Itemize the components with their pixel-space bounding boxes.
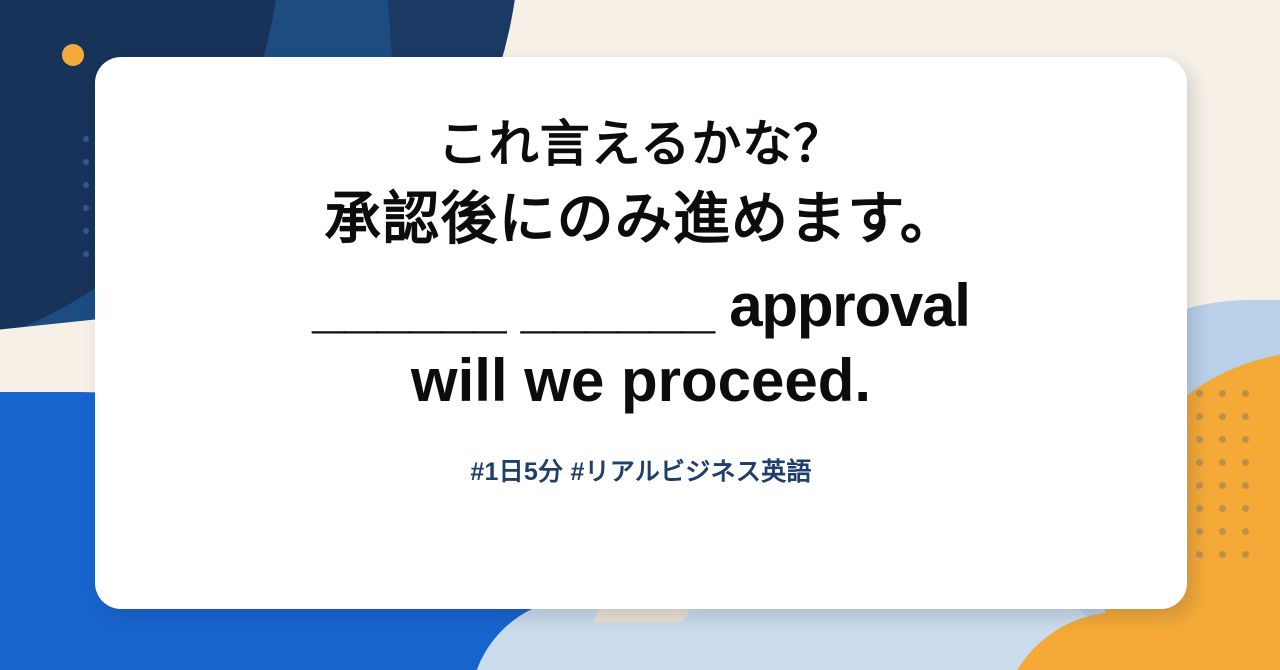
prompt-question-line: これ言えるかな？ [438,115,845,174]
dot-icon [1219,551,1226,558]
dot-icon [1242,390,1249,397]
dot-icon [1196,528,1203,535]
dot-icon [1196,413,1203,420]
dot-icon [83,228,89,234]
decor-shape-blue-bottom-band [0,604,680,670]
dot-icon [1219,482,1226,489]
slide-canvas: これ言えるかな？ 承認後にのみ進めます。 ______ ______ appro… [0,0,1280,670]
dot-icon [1196,459,1203,466]
dot-icon [83,159,89,165]
left-dot-column [83,136,89,257]
english-answer-line-2: will we proceed. [411,344,871,417]
dot-icon [83,182,89,188]
dot-icon [83,205,89,211]
decor-shape-orange-bottom [1000,612,1280,670]
dot-icon [1242,413,1249,420]
english-answer-line-1: ______ ______ approval [312,269,969,342]
dot-icon [1219,390,1226,397]
dot-icon [1242,528,1249,535]
dot-icon [1242,505,1249,512]
orange-accent-dot-icon [62,44,84,66]
right-dot-grid [1196,390,1265,574]
content-card: これ言えるかな？ 承認後にのみ進めます。 ______ ______ appro… [95,57,1187,609]
dot-icon [83,251,89,257]
dot-icon [1196,505,1203,512]
dot-icon [1219,459,1226,466]
dot-icon [1242,436,1249,443]
japanese-sentence-line: 承認後にのみ進めます。 [324,186,958,253]
hashtag-line: #1日5分 #リアルビジネス英語 [470,452,811,488]
dot-icon [1242,459,1249,466]
dot-icon [83,136,89,142]
dot-icon [1196,390,1203,397]
dot-icon [1242,482,1249,489]
dot-icon [1219,528,1226,535]
dot-icon [1196,482,1203,489]
dot-icon [1196,436,1203,443]
dot-icon [1219,413,1226,420]
dot-icon [1219,505,1226,512]
dot-icon [1242,551,1249,558]
dot-icon [1196,551,1203,558]
dot-icon [1219,436,1226,443]
